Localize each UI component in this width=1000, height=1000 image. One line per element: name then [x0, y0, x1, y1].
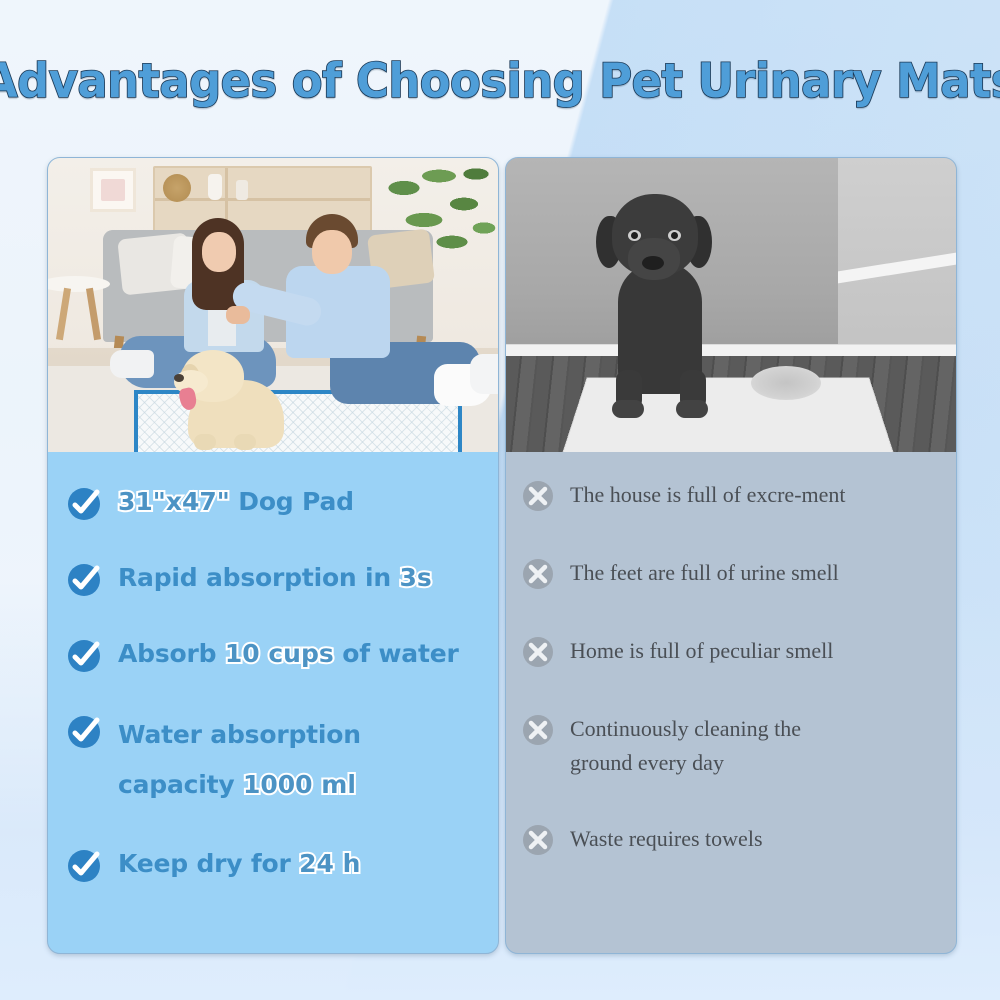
list-item-label: Continuously cleaning theground every da… — [570, 712, 801, 780]
labrador-dog-icon — [188, 344, 293, 452]
disadvantages-list: The house is full of excre-ment The feet… — [506, 452, 956, 953]
check-circle-icon — [64, 846, 104, 886]
list-item: Home is full of peculiar smell — [520, 634, 938, 670]
disadvantages-panel: The house is full of excre-ment The feet… — [505, 157, 957, 954]
wet-spot-icon — [751, 366, 821, 400]
list-item: Continuously cleaning theground every da… — [520, 712, 938, 780]
list-item-label: Keep dry for 24 h — [118, 844, 360, 884]
puppy-photo — [506, 158, 956, 452]
page-title: Advantages of Choosing Pet Urinary Mats — [0, 54, 1000, 109]
list-item: Water absorptioncapacity 1000 ml — [64, 710, 480, 810]
list-item-label: Waste requires towels — [570, 822, 763, 856]
list-item: Keep dry for 24 h — [64, 844, 480, 886]
list-item-label: 31"x47" Dog Pad — [118, 482, 354, 522]
list-item: Waste requires towels — [520, 822, 938, 858]
list-item-label: The feet are full of urine smell — [570, 556, 839, 590]
list-item: 31"x47" Dog Pad — [64, 482, 480, 524]
list-item-label: Absorb 10 cups of water — [118, 634, 459, 674]
cross-circle-icon — [520, 634, 556, 670]
cross-circle-icon — [520, 712, 556, 748]
advantages-list: 31"x47" Dog Pad Rapid absorption in 3s A… — [48, 452, 498, 953]
check-circle-icon — [64, 636, 104, 676]
list-item-label: Water absorptioncapacity 1000 ml — [118, 710, 361, 810]
list-item: The feet are full of urine smell — [520, 556, 938, 592]
list-item: Rapid absorption in 3s — [64, 558, 480, 600]
list-item: Absorb 10 cups of water — [64, 634, 480, 676]
cross-circle-icon — [520, 822, 556, 858]
cross-circle-icon — [520, 478, 556, 514]
man-figure — [284, 214, 474, 404]
list-item-label: Home is full of peculiar smell — [570, 634, 833, 668]
cross-circle-icon — [520, 556, 556, 592]
check-circle-icon — [64, 484, 104, 524]
check-circle-icon — [64, 560, 104, 600]
list-item: The house is full of excre-ment — [520, 478, 938, 514]
puppy-icon — [598, 194, 738, 444]
list-item-label: Rapid absorption in 3s — [118, 558, 432, 598]
list-item-label: The house is full of excre-ment — [570, 478, 846, 512]
lifestyle-photo — [48, 158, 498, 452]
infographic-canvas: Advantages of Choosing Pet Urinary Mats — [0, 0, 1000, 1000]
advantages-panel: 31"x47" Dog Pad Rapid absorption in 3s A… — [47, 157, 499, 954]
check-circle-icon — [64, 712, 104, 752]
wall-picture-icon — [90, 168, 136, 212]
